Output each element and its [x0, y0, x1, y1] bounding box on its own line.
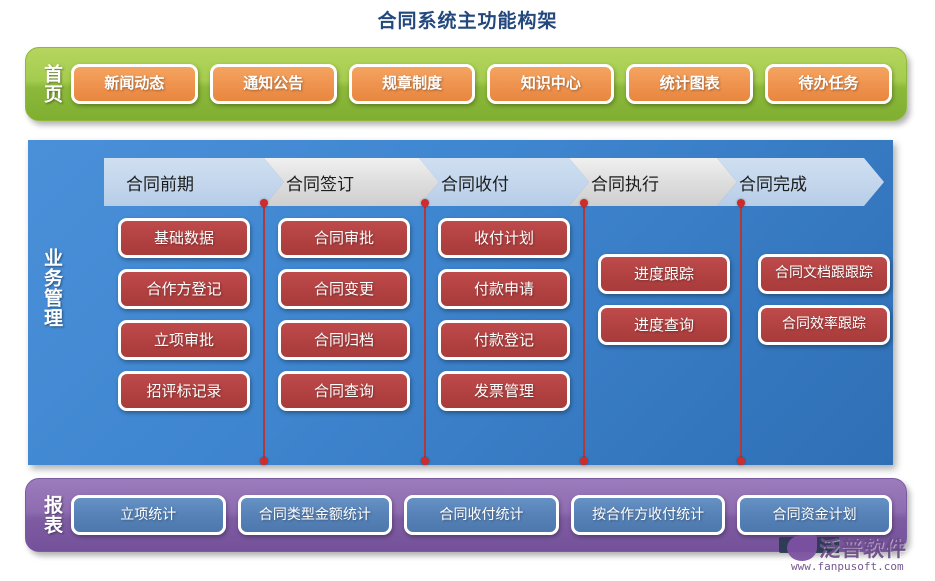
watermark-url: www.fanpusoft.com [791, 560, 904, 573]
separator-dot [421, 457, 429, 465]
column-separator-1 [263, 203, 265, 461]
business-panel-label: 业务管理 [42, 248, 61, 328]
home-band-label: 首页 [42, 64, 61, 104]
business-item-basic-data[interactable]: 基础数据 [118, 218, 250, 258]
business-item-partner-registration[interactable]: 合作方登记 [118, 269, 250, 309]
home-band-items: 新闻动态 通知公告 规章制度 知识中心 统计图表 待办任务 [71, 64, 906, 104]
watermark-logo-icon [787, 535, 817, 561]
report-band-label: 报表 [42, 495, 61, 535]
business-item-contract-change[interactable]: 合同变更 [278, 269, 410, 309]
stage-contract-payment[interactable]: 合同收付 [419, 158, 589, 206]
separator-dot [737, 199, 745, 207]
watermark-brand: 泛普软件 [819, 533, 907, 563]
home-item-knowledge[interactable]: 知识中心 [487, 64, 614, 104]
watermark: 泛普软件 www.fanpusoft.com [779, 533, 929, 579]
business-columns: 基础数据 合作方登记 立项审批 招评标记录 合同审批 合同变更 合同归档 合同查… [104, 218, 904, 458]
separator-dot [580, 457, 588, 465]
stage-contract-sign[interactable]: 合同签订 [264, 158, 439, 206]
report-band: 报表 立项统计 合同类型金额统计 合同收付统计 按合作方收付统计 合同资金计划 [25, 478, 907, 552]
separator-dot [260, 199, 268, 207]
column-separator-2 [424, 203, 426, 461]
separator-dot [260, 457, 268, 465]
business-column-1: 基础数据 合作方登记 立项审批 招评标记录 [104, 218, 264, 458]
business-item-invoice-management[interactable]: 发票管理 [438, 371, 570, 411]
home-item-news[interactable]: 新闻动态 [71, 64, 198, 104]
home-item-charts[interactable]: 统计图表 [626, 64, 753, 104]
business-item-document-tracking[interactable]: 合同文档跟跟踪 [758, 254, 890, 294]
column-separator-3 [583, 203, 585, 461]
separator-dot [580, 199, 588, 207]
business-item-payment-request[interactable]: 付款申请 [438, 269, 570, 309]
home-item-regulations[interactable]: 规章制度 [349, 64, 476, 104]
business-column-2: 合同审批 合同变更 合同归档 合同查询 [264, 218, 424, 458]
page-title: 合同系统主功能构架 [0, 6, 935, 33]
report-item-contract-payment-statistics[interactable]: 合同收付统计 [404, 495, 559, 535]
report-item-partner-payment-statistics[interactable]: 按合作方收付统计 [571, 495, 726, 535]
home-band: 首页 新闻动态 通知公告 规章制度 知识中心 统计图表 待办任务 [25, 47, 907, 121]
stage-label: 合同收付 [441, 170, 509, 195]
business-item-progress-query[interactable]: 进度查询 [598, 305, 730, 345]
business-item-project-approval[interactable]: 立项审批 [118, 320, 250, 360]
business-item-contract-archive[interactable]: 合同归档 [278, 320, 410, 360]
report-band-items: 立项统计 合同类型金额统计 合同收付统计 按合作方收付统计 合同资金计划 [71, 495, 906, 535]
stage-contract-exec[interactable]: 合同执行 [569, 158, 737, 206]
home-item-notice[interactable]: 通知公告 [210, 64, 337, 104]
stage-flow: 合同前期 合同签订 合同收付 合同执行 合同完成 [104, 158, 904, 206]
business-item-progress-tracking[interactable]: 进度跟踪 [598, 254, 730, 294]
business-item-payment-plan[interactable]: 收付计划 [438, 218, 570, 258]
business-column-3: 收付计划 付款申请 付款登记 发票管理 [424, 218, 584, 458]
business-item-efficiency-tracking[interactable]: 合同效率跟踪 [758, 305, 890, 345]
stage-label: 合同前期 [126, 170, 194, 195]
business-item-bidding-record[interactable]: 招评标记录 [118, 371, 250, 411]
stage-label: 合同完成 [739, 170, 807, 195]
report-item-contract-fund-plan[interactable]: 合同资金计划 [737, 495, 892, 535]
stage-label: 合同签订 [286, 170, 354, 195]
business-item-contract-approval[interactable]: 合同审批 [278, 218, 410, 258]
stage-contract-pre[interactable]: 合同前期 [104, 158, 284, 206]
column-separator-4 [740, 203, 742, 461]
report-item-project-statistics[interactable]: 立项统计 [71, 495, 226, 535]
business-column-4: 进度跟踪 进度查询 [584, 218, 744, 458]
business-column-5: 合同文档跟跟踪 合同效率跟踪 [744, 218, 904, 458]
report-item-contract-type-amount[interactable]: 合同类型金额统计 [238, 495, 393, 535]
home-item-todo[interactable]: 待办任务 [765, 64, 892, 104]
stage-label: 合同执行 [591, 170, 659, 195]
separator-dot [421, 199, 429, 207]
separator-dot [737, 457, 745, 465]
business-item-contract-query[interactable]: 合同查询 [278, 371, 410, 411]
business-item-payment-record[interactable]: 付款登记 [438, 320, 570, 360]
